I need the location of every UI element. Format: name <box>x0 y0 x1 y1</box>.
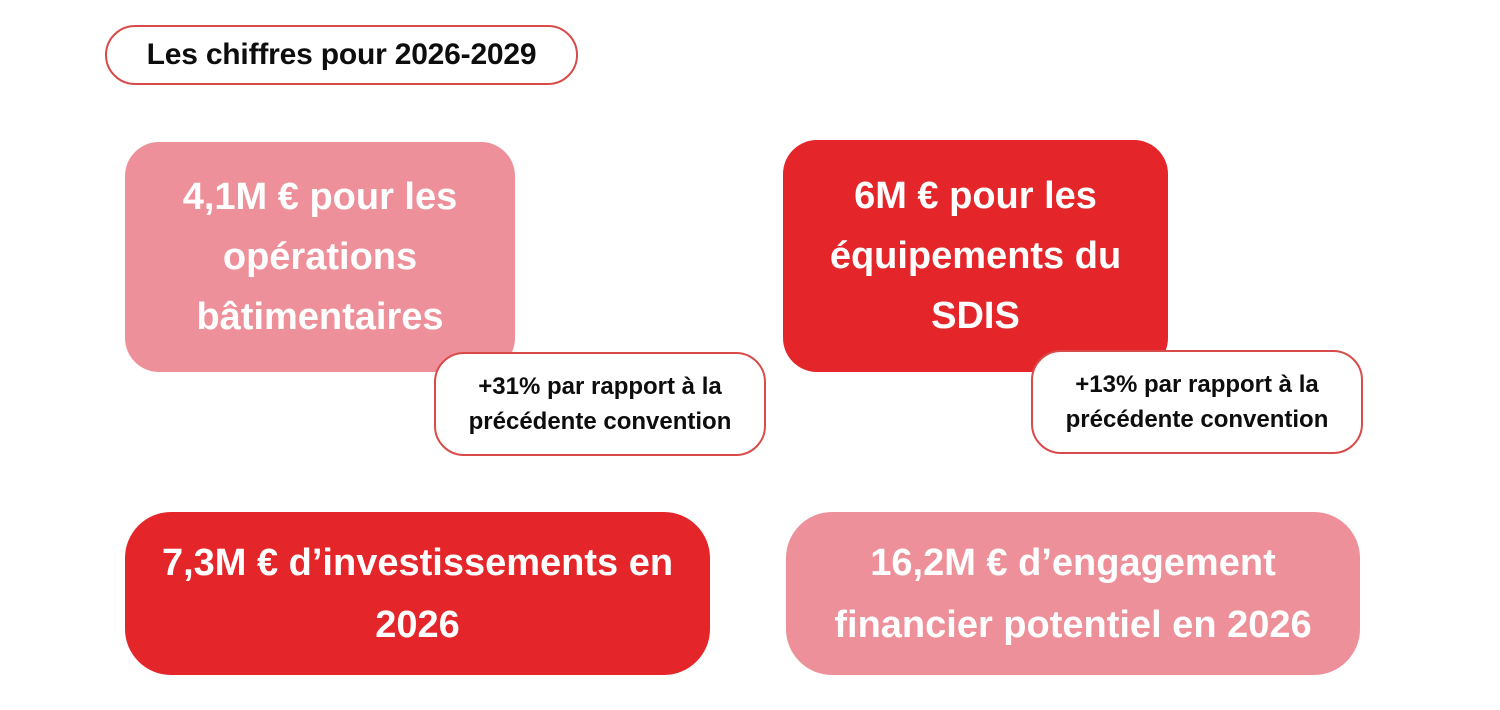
stat-card-investissements: 7,3M € d’investissements en 2026 <box>125 512 710 675</box>
stat-card-investissements-label: 7,3M € d’investissements en 2026 <box>125 532 710 656</box>
stat-card-sdis-label: 6M € pour les équipements du SDIS <box>783 166 1168 346</box>
page-title: Les chiffres pour 2026-2029 <box>147 38 537 72</box>
comparison-badge-sdis-label: +13% par rapport à la précédente convent… <box>1033 367 1361 437</box>
stat-card-batiments: 4,1M € pour les opérations bâtimentaires <box>125 142 515 372</box>
comparison-badge-batiments: +31% par rapport à la précédente convent… <box>434 352 766 456</box>
slide-title-pill: Les chiffres pour 2026-2029 <box>105 25 578 85</box>
comparison-badge-sdis: +13% par rapport à la précédente convent… <box>1031 350 1363 454</box>
stat-card-engagement: 16,2M € d’engagement financier potentiel… <box>786 512 1360 675</box>
stat-card-sdis: 6M € pour les équipements du SDIS <box>783 140 1168 372</box>
stat-card-engagement-label: 16,2M € d’engagement financier potentiel… <box>786 532 1360 656</box>
slide-canvas: Les chiffres pour 2026-2029 4,1M € pour … <box>0 0 1500 710</box>
stat-card-batiments-label: 4,1M € pour les opérations bâtimentaires <box>125 167 515 347</box>
comparison-badge-batiments-label: +31% par rapport à la précédente convent… <box>436 369 764 439</box>
